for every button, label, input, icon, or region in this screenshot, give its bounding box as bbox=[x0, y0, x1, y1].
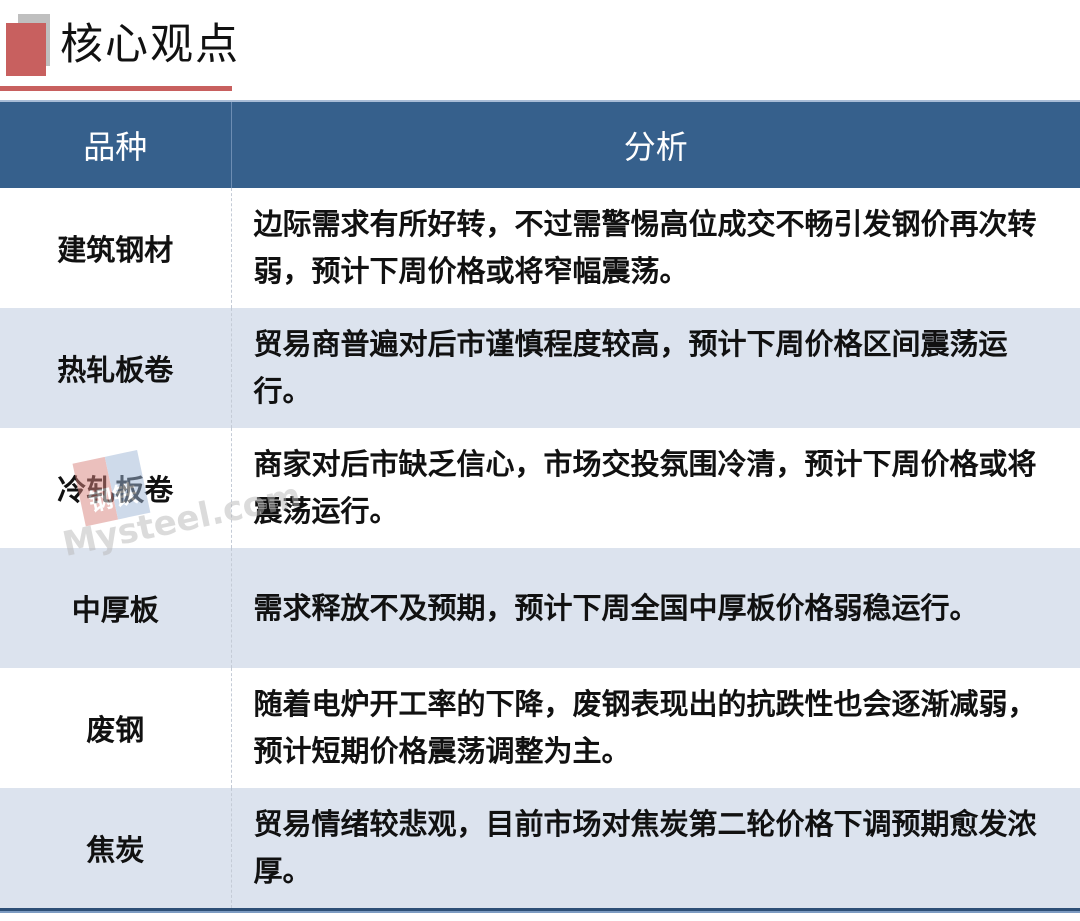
cell-kind: 冷轧板卷 bbox=[0, 428, 231, 548]
table-row: 焦炭贸易情绪较悲观，目前市场对焦炭第二轮价格下调预期愈发浓厚。 bbox=[0, 788, 1080, 910]
table-row: 热轧板卷贸易商普遍对后市谨慎程度较高，预计下周价格区间震荡运行。 bbox=[0, 308, 1080, 428]
page-title: 核心观点 bbox=[60, 24, 240, 67]
cell-kind: 中厚板 bbox=[0, 548, 231, 668]
table-header-row: 品种 分析 bbox=[0, 101, 1080, 188]
cell-analysis: 需求释放不及预期，预计下周全国中厚板价格弱稳运行。 bbox=[231, 548, 1080, 668]
cell-kind: 建筑钢材 bbox=[0, 188, 231, 308]
title-marker bbox=[0, 14, 52, 76]
cell-kind: 热轧板卷 bbox=[0, 308, 231, 428]
cell-analysis: 随着电炉开工率的下降，废钢表现出的抗跌性也会逐渐减弱，预计短期价格震荡调整为主。 bbox=[231, 668, 1080, 788]
table-row: 冷轧板卷商家对后市缺乏信心，市场交投氛围冷清，预计下周价格或将震荡运行。 bbox=[0, 428, 1080, 548]
table-row: 建筑钢材边际需求有所好转，不过需警惕高位成交不畅引发钢价再次转弱，预计下周价格或… bbox=[0, 188, 1080, 308]
cell-kind: 废钢 bbox=[0, 668, 231, 788]
column-header-kind: 品种 bbox=[0, 101, 231, 188]
table-row: 中厚板需求释放不及预期，预计下周全国中厚板价格弱稳运行。 bbox=[0, 548, 1080, 668]
title-row: 核心观点 bbox=[0, 14, 240, 76]
cell-analysis: 贸易商普遍对后市谨慎程度较高，预计下周价格区间震荡运行。 bbox=[231, 308, 1080, 428]
marker-red-square bbox=[6, 23, 46, 76]
column-header-analysis: 分析 bbox=[231, 101, 1080, 188]
title-underline bbox=[0, 86, 232, 91]
table-body: 建筑钢材边际需求有所好转，不过需警惕高位成交不畅引发钢价再次转弱，预计下周价格或… bbox=[0, 188, 1080, 910]
cell-kind: 焦炭 bbox=[0, 788, 231, 910]
cell-analysis: 贸易情绪较悲观，目前市场对焦炭第二轮价格下调预期愈发浓厚。 bbox=[231, 788, 1080, 910]
page-header: 核心观点 bbox=[0, 0, 1080, 100]
cell-analysis: 商家对后市缺乏信心，市场交投氛围冷清，预计下周价格或将震荡运行。 bbox=[231, 428, 1080, 548]
table-row: 废钢随着电炉开工率的下降，废钢表现出的抗跌性也会逐渐减弱，预计短期价格震荡调整为… bbox=[0, 668, 1080, 788]
table-header: 品种 分析 bbox=[0, 101, 1080, 188]
core-viewpoints-table: 品种 分析 建筑钢材边际需求有所好转，不过需警惕高位成交不畅引发钢价再次转弱，预… bbox=[0, 100, 1080, 911]
cell-analysis: 边际需求有所好转，不过需警惕高位成交不畅引发钢价再次转弱，预计下周价格或将窄幅震… bbox=[231, 188, 1080, 308]
